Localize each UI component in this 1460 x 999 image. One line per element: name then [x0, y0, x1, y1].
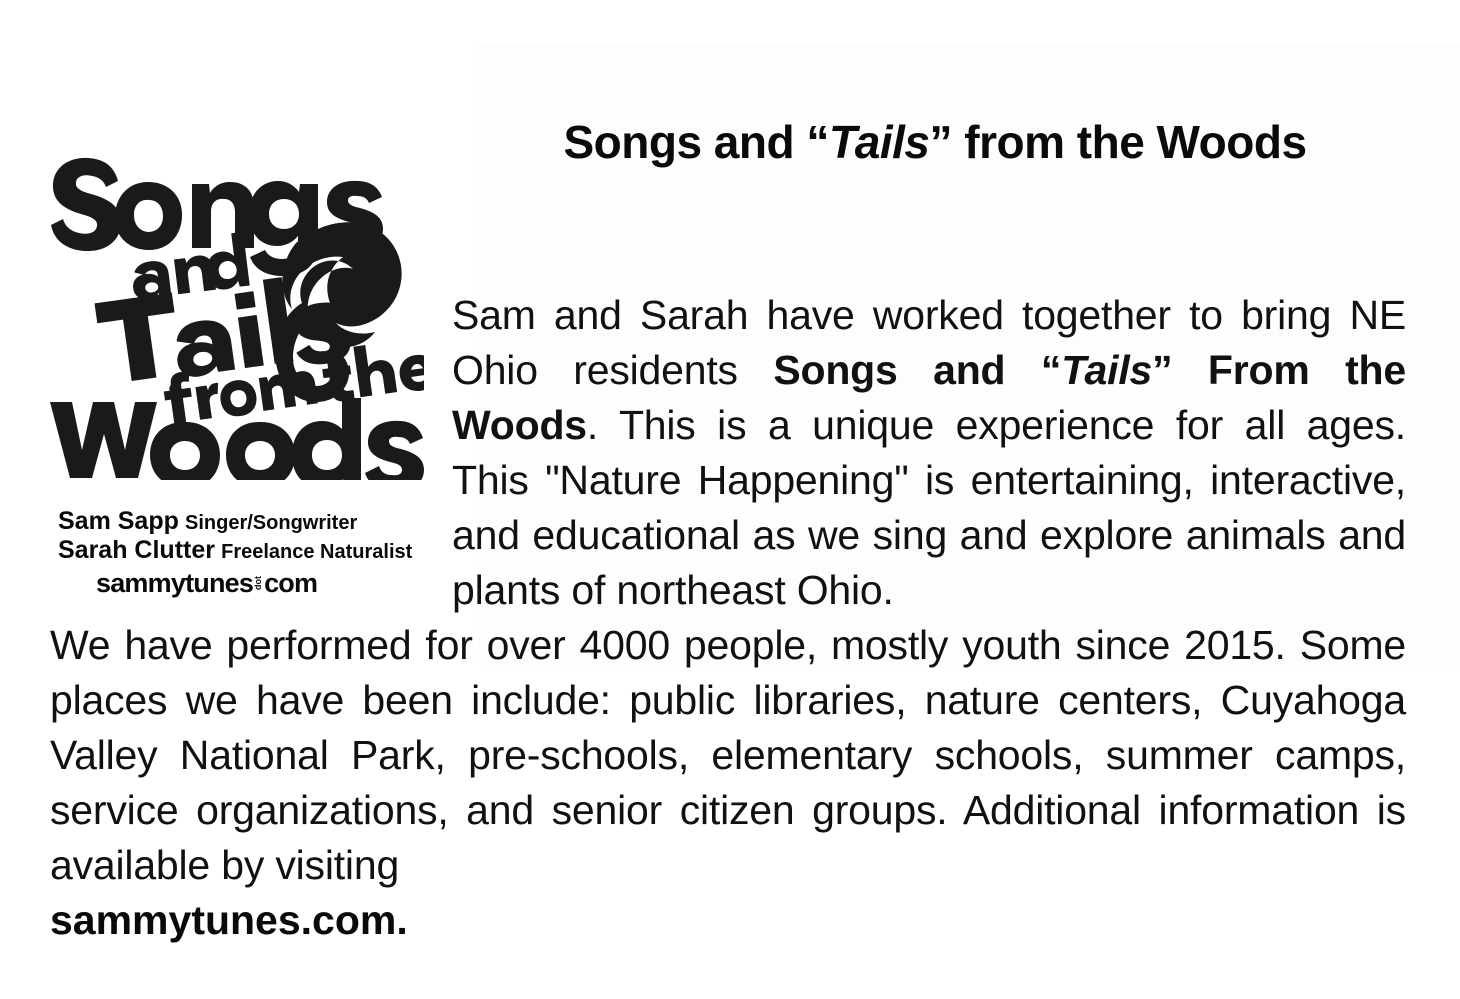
website-dot-word: dot	[254, 576, 263, 590]
details-paragraph: We have performed for over 4000 people, …	[50, 618, 1406, 893]
website-tld: com	[264, 568, 317, 599]
website-main: sammytunes	[96, 568, 253, 599]
credit-role-1: Singer/Songwriter	[185, 512, 357, 534]
intro-bold-1: Songs and “	[773, 347, 1061, 393]
page-title-part1: Songs and “	[563, 116, 828, 168]
details-text: We have performed for over 4000 people, …	[50, 622, 1406, 888]
intro-text-b: . This is a unique experience for all ag…	[452, 402, 1406, 613]
credit-line-1: Sam Sapp Singer/Songwriter	[58, 508, 448, 537]
flyer-page: Songs and “Tails” from the Woods	[0, 0, 1460, 999]
page-title: Songs and “Tails” from the Woods	[470, 116, 1400, 168]
credit-name-2: Sarah Clutter	[58, 536, 215, 564]
logo-website-url[interactable]: sammytunesdotcom	[96, 568, 317, 599]
logo-block: Sam Sapp Singer/Songwriter Sarah Clutter…	[44, 150, 444, 610]
credit-name-1: Sam Sapp	[58, 507, 179, 535]
credit-line-2: Sarah Clutter Freelance Naturalist	[58, 537, 448, 566]
credit-role-2: Freelance Naturalist	[221, 541, 412, 563]
logo-artwork	[44, 150, 424, 480]
intro-bold-italic: Tails	[1061, 347, 1152, 393]
page-title-emphasis: Tails	[829, 116, 930, 168]
page-title-part2: ” from the Woods	[930, 116, 1307, 168]
songs-and-tails-logo-icon	[44, 150, 424, 480]
credits: Sam Sapp Singer/Songwriter Sarah Clutter…	[58, 508, 448, 566]
intro-paragraph: Sam and Sarah have worked together to br…	[452, 288, 1406, 618]
website-link[interactable]: sammytunes.com.	[50, 893, 408, 948]
